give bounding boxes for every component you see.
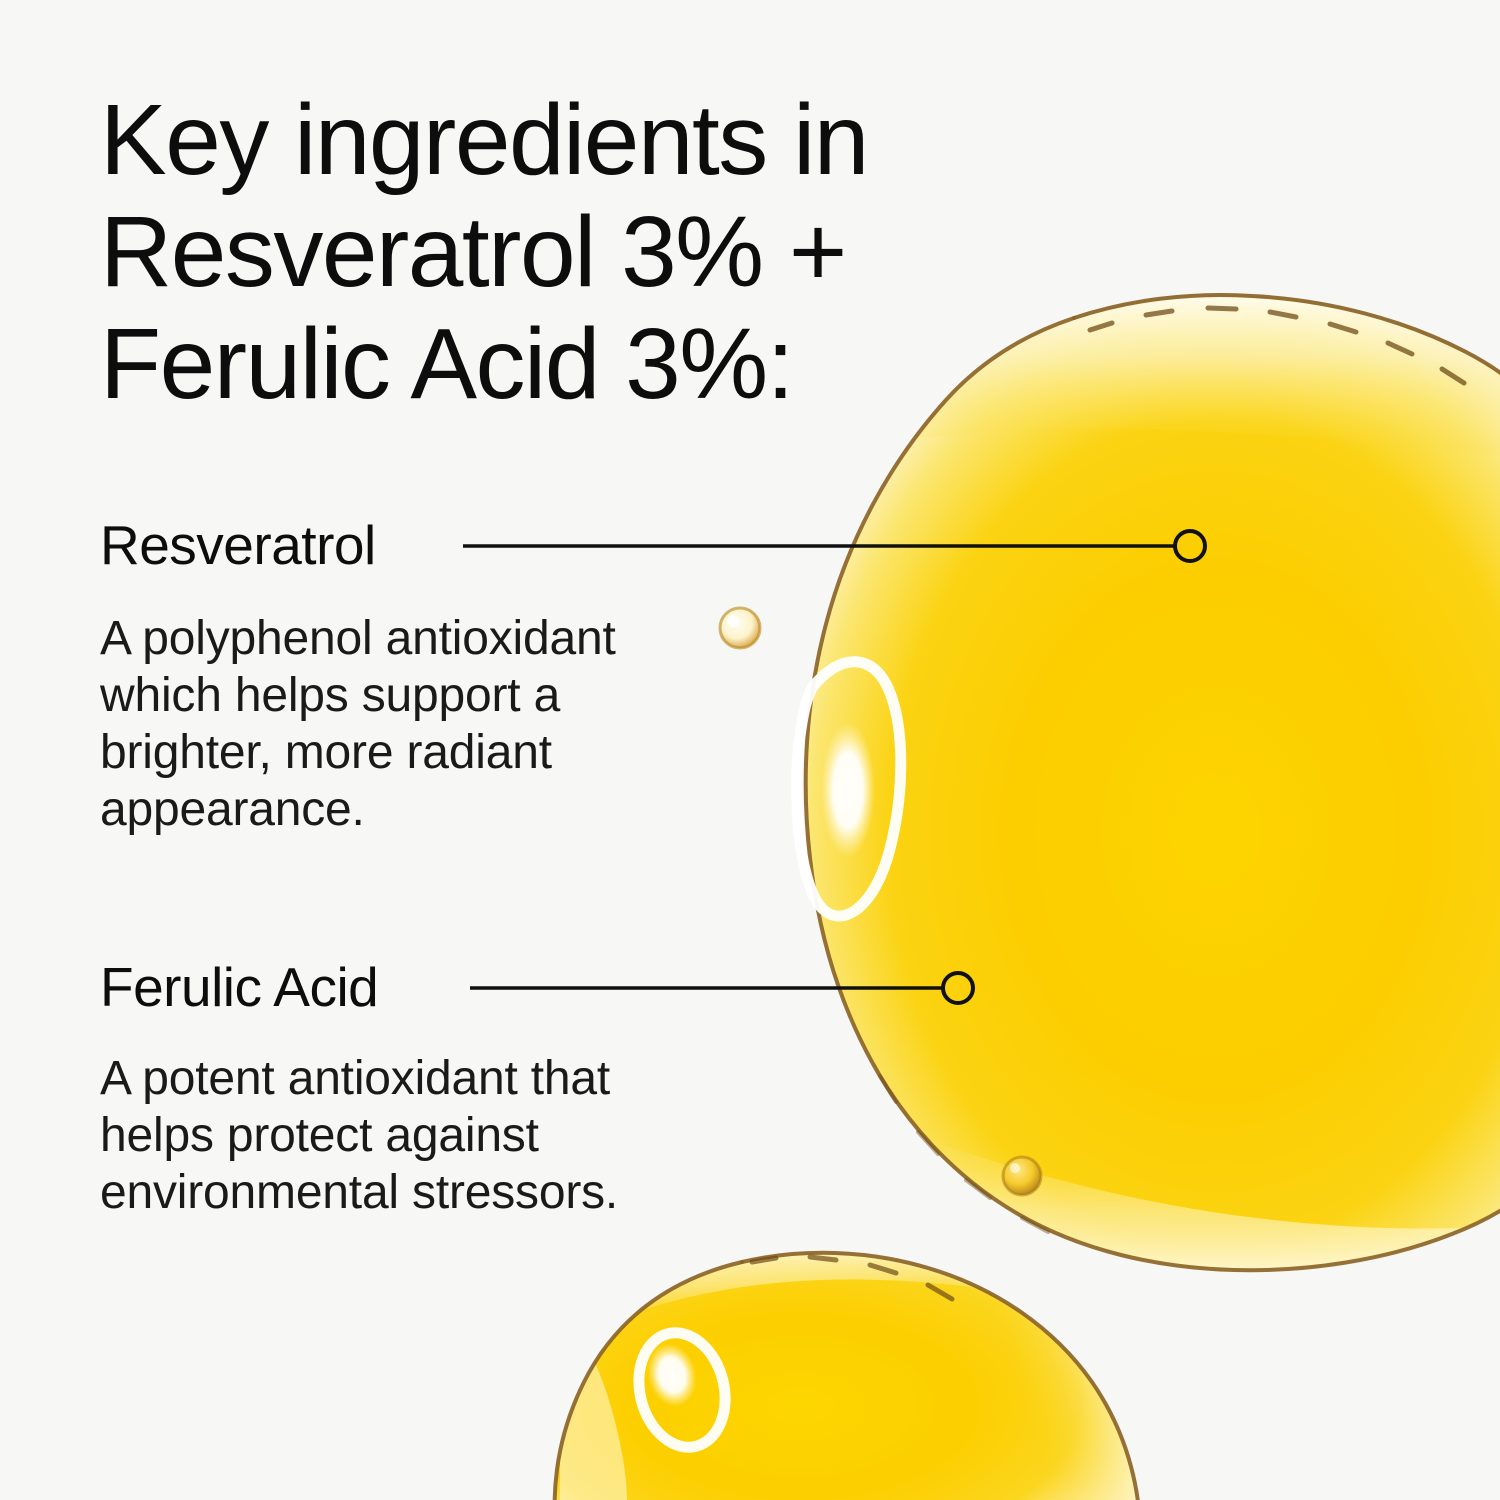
ingredient-block-resveratrol: Resveratrol A polyphenol antioxidant whi… xyxy=(100,512,700,838)
text-content: Key ingredients in Resveratrol 3% + Feru… xyxy=(0,0,1500,1500)
page-title: Key ingredients in Resveratrol 3% + Feru… xyxy=(100,84,980,420)
ingredient-block-ferulic-acid: Ferulic Acid A potent antioxidant that h… xyxy=(100,954,700,1221)
ingredient-description-resveratrol: A polyphenol antioxidant which helps sup… xyxy=(100,610,700,838)
ingredient-name-resveratrol: Resveratrol xyxy=(100,512,700,578)
ingredient-infographic: Key ingredients in Resveratrol 3% + Feru… xyxy=(0,0,1500,1500)
ingredient-description-ferulic-acid: A potent antioxidant that helps protect … xyxy=(100,1050,700,1221)
ingredient-name-ferulic-acid: Ferulic Acid xyxy=(100,954,700,1020)
